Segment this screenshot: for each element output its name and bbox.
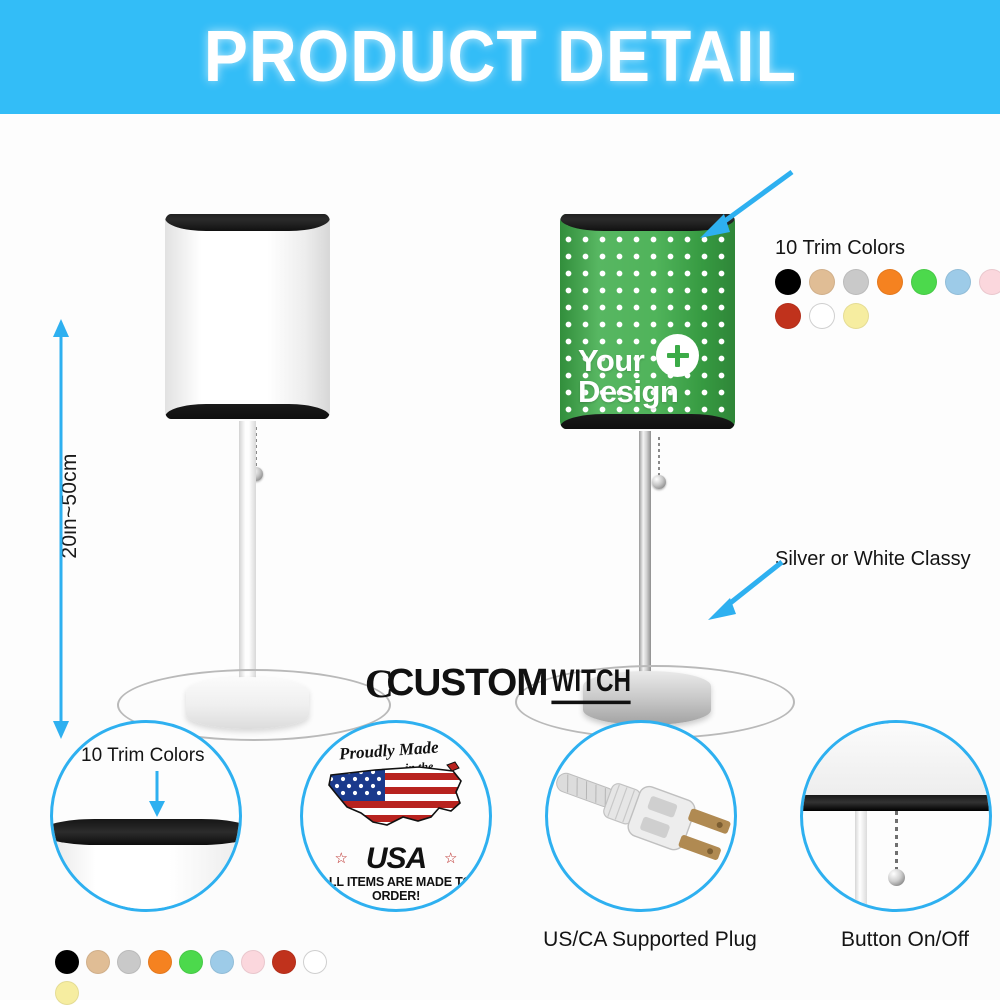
logo-secondary-text: WITCH (551, 663, 631, 704)
header-banner: PRODUCT DETAIL (0, 0, 1000, 114)
trim-colors-panel: 10 Trim Colors (775, 237, 1000, 329)
color-swatch[interactable] (775, 303, 801, 329)
usa-badge: Proudly Made in the (309, 729, 484, 904)
lamp-pole-silver (639, 431, 651, 693)
shade-trim-ring (50, 819, 242, 845)
plus-icon (656, 334, 699, 377)
color-swatch[interactable] (148, 950, 172, 974)
color-swatch[interactable] (55, 981, 79, 1005)
feature-circle: 10 Trim Colors (50, 720, 242, 912)
color-swatch[interactable] (843, 269, 869, 295)
color-swatch[interactable] (809, 303, 835, 329)
pull-chain-ball (652, 475, 666, 489)
shade-trim-ring (800, 795, 992, 811)
star-icon: ☆ (335, 849, 348, 867)
color-swatch[interactable] (843, 303, 869, 329)
bottom-swatch-list (55, 950, 345, 1005)
color-swatch[interactable] (877, 269, 903, 295)
color-swatch[interactable] (55, 950, 79, 974)
feature-circle (545, 720, 737, 912)
pull-chain (658, 437, 660, 479)
logo-primary-text: CUSTOM (386, 662, 547, 705)
lamp-shade-green: Your Design (560, 214, 735, 429)
color-swatch[interactable] (179, 950, 203, 974)
feature-caption-plug: US/CA Supported Plug (535, 928, 765, 952)
lamp-shade-white (165, 214, 330, 419)
shade-trim-top (165, 214, 330, 231)
color-swatch[interactable] (86, 950, 110, 974)
feature-circle: Proudly Made in the (300, 720, 492, 912)
feature-trim-label: 10 Trim Colors (81, 745, 205, 767)
base-callout-arrow-icon (700, 554, 790, 624)
lamp-pole (239, 421, 256, 699)
pull-chain-ball[interactable] (888, 869, 905, 886)
color-swatch[interactable] (241, 950, 265, 974)
star-icon: ☆ (444, 849, 457, 867)
trim-colors-title: 10 Trim Colors (775, 237, 1000, 260)
us-plug-icon (548, 723, 734, 909)
color-swatch[interactable] (272, 950, 296, 974)
trim-callout-arrow-icon (690, 164, 800, 244)
down-arrow-icon (148, 771, 166, 817)
shade-trim-bottom (165, 404, 330, 419)
shade-trim-bottom (560, 414, 735, 429)
brand-logo: C CUSTOM WITCH (0, 660, 1000, 707)
color-swatch[interactable] (945, 269, 971, 295)
trim-colors-swatches (775, 269, 1000, 329)
shade-surface (165, 214, 330, 419)
feature-caption-button: Button On/Off (790, 928, 1000, 952)
bottom-color-swatches (55, 950, 355, 1005)
feature-circle (800, 720, 992, 912)
design-line-2: Design (578, 377, 678, 407)
color-swatch[interactable] (775, 269, 801, 295)
usa-subtitle: ALL ITEMS ARE MADE TO ORDER! (309, 875, 484, 903)
design-line-1: Your (578, 343, 644, 378)
base-finish-label: Silver or White Classy (775, 548, 971, 571)
color-swatch[interactable] (911, 269, 937, 295)
color-swatch[interactable] (117, 950, 141, 974)
main-stage: 7in~18cm 20in~50cm (0, 114, 1000, 700)
page-title: PRODUCT DETAIL (203, 16, 796, 98)
usa-flag-map-icon (323, 759, 473, 839)
product-detail-page: PRODUCT DETAIL 7in~18cm 20in~50cm (0, 0, 1000, 1000)
color-swatch[interactable] (809, 269, 835, 295)
pull-chain (895, 811, 898, 873)
shade-surface (800, 723, 992, 797)
color-swatch[interactable] (979, 269, 1000, 295)
color-swatch[interactable] (210, 950, 234, 974)
color-swatch[interactable] (303, 950, 327, 974)
lamp-pole (855, 811, 867, 911)
